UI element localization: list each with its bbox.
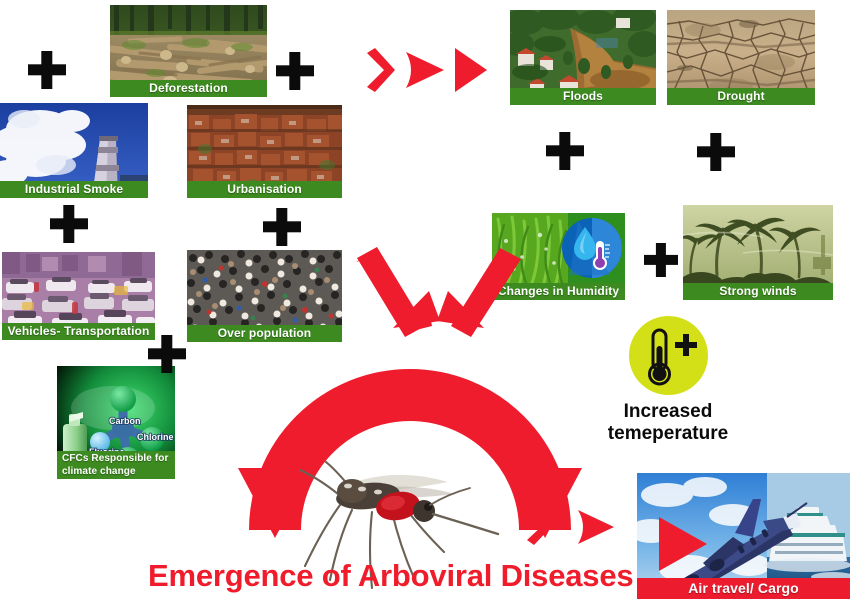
driver-card-urbanisation[interactable]: Urbanisation bbox=[187, 105, 342, 198]
chevron-solid-bottom bbox=[578, 510, 614, 544]
chevron-solid-top bbox=[455, 48, 487, 92]
svg-text:Carbon: Carbon bbox=[109, 416, 141, 426]
increased-temperature-block[interactable]: Increased temeperature bbox=[578, 316, 758, 445]
chevron-thin-top bbox=[367, 48, 395, 92]
effect-label-drought: Drought bbox=[667, 88, 815, 105]
driver-card-industrial-smoke[interactable]: Industrial Smoke bbox=[0, 103, 148, 198]
arc-arrowhead-left bbox=[238, 468, 312, 538]
temperature-label-line1: Increased bbox=[624, 401, 713, 422]
effect-label-changes-in-humidity: Changes in Humidity bbox=[492, 283, 625, 300]
driver-label-cfcs: CFCs Responsible for climate change bbox=[57, 451, 175, 479]
driver-card-deforestation[interactable]: Deforestation bbox=[110, 5, 267, 97]
transmission-label-air-travel-cargo: Air travel/ Cargo bbox=[637, 578, 850, 599]
plus-over-population bbox=[263, 208, 301, 246]
plus-drought bbox=[697, 133, 735, 171]
plus-cfcs bbox=[148, 335, 186, 373]
effect-card-strong-winds[interactable]: Strong winds bbox=[683, 205, 833, 300]
effect-card-changes-in-humidity[interactable]: Changes in Humidity bbox=[492, 213, 625, 300]
driver-card-over-population[interactable]: Over population bbox=[187, 250, 342, 342]
plus-deforestation-right bbox=[276, 52, 314, 90]
plus-vehicles bbox=[50, 205, 88, 243]
effect-label-strong-winds: Strong winds bbox=[683, 283, 833, 300]
arrow-down-left-shaft bbox=[357, 247, 425, 337]
driver-label-urbanisation: Urbanisation bbox=[187, 181, 342, 198]
driver-label-deforestation: Deforestation bbox=[110, 80, 267, 97]
page-title: Emergence of Arboviral Diseases bbox=[148, 558, 633, 594]
plus-strong-winds bbox=[644, 243, 678, 277]
driver-label-industrial-smoke: Industrial Smoke bbox=[0, 181, 148, 198]
arrow-down-right-head bbox=[437, 291, 484, 328]
driver-card-vehicles-transportation[interactable]: Vehicles- Transportation bbox=[2, 252, 155, 340]
effect-card-floods[interactable]: Floods bbox=[510, 10, 656, 105]
arc-arrowhead-right bbox=[508, 468, 582, 538]
cfcs-label-line2: climate change bbox=[62, 466, 136, 477]
temperature-label-line2: temeperature bbox=[608, 423, 728, 444]
arrow-down-left-head bbox=[393, 291, 440, 328]
increased-temperature-label: Increased temeperature bbox=[578, 401, 758, 445]
cfcs-label-line1: CFCs Responsible for bbox=[62, 453, 168, 464]
chevron-thin-bottom bbox=[527, 507, 552, 545]
driver-label-vehicles-transportation: Vehicles- Transportation bbox=[2, 323, 155, 340]
driver-label-over-population: Over population bbox=[187, 325, 342, 342]
effect-label-floods: Floods bbox=[510, 88, 656, 105]
svg-text:Chlorine: Chlorine bbox=[137, 432, 174, 442]
transmission-card-air-travel-cargo[interactable]: Air travel/ Cargo bbox=[637, 473, 850, 599]
effect-card-drought[interactable]: Drought bbox=[667, 10, 815, 105]
chevron-medium-top bbox=[406, 52, 444, 88]
driver-card-cfcs[interactable]: Carbon Chlorine Fluorine CFCs Responsibl… bbox=[57, 366, 175, 479]
thermometer-plus-icon bbox=[629, 316, 708, 395]
thermometer-plus-badge bbox=[629, 316, 708, 395]
arc-double-arrow bbox=[238, 395, 582, 538]
plus-deforestation-left bbox=[28, 51, 66, 89]
plus-floods bbox=[546, 132, 584, 170]
arrow-down-left bbox=[356, 247, 436, 336]
infographic-canvas: Deforestation bbox=[0, 0, 850, 607]
